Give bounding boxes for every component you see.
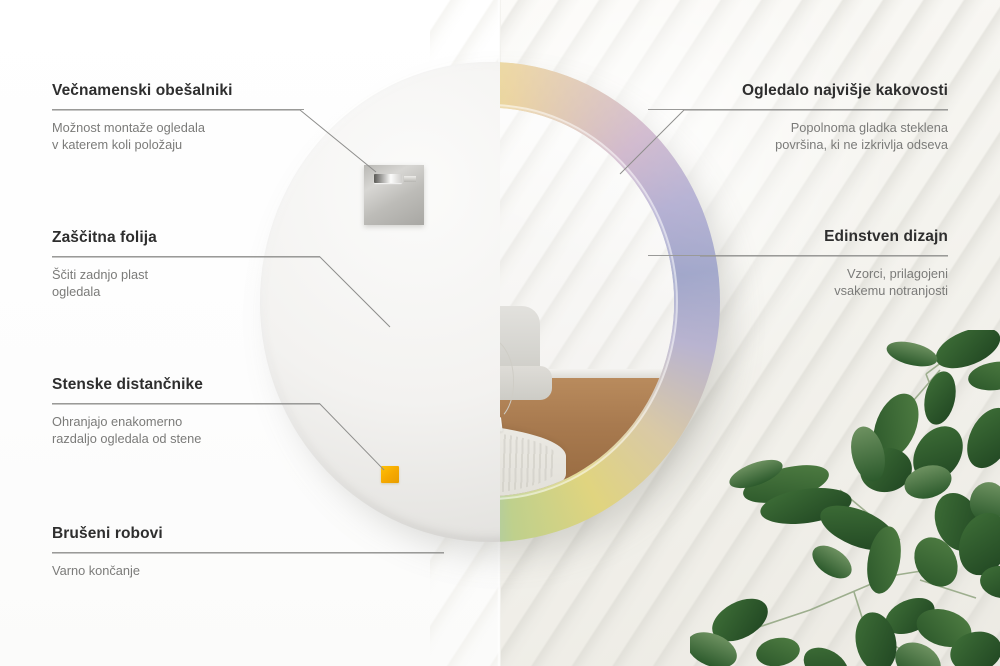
feature-wall-spacers: Stenske distančnike Ohranjajo enakomerno… xyxy=(52,376,320,447)
feature-protective-film-title: Zaščitna folija xyxy=(52,229,320,247)
feature-protective-film-desc: Ščiti zadnjo plast ogledala xyxy=(52,266,320,300)
feature-top-quality-mirror-title: Ogledalo najvišje kakovosti xyxy=(648,82,948,100)
feature-protective-film-rule xyxy=(52,256,320,257)
feature-wall-spacers-title: Stenske distančnike xyxy=(52,376,320,394)
feature-top-quality-mirror-rule xyxy=(648,109,948,110)
feature-hangers-desc: Možnost montaže ogledala v katerem koli … xyxy=(52,119,304,153)
hanger-slot-secondary xyxy=(404,176,416,182)
feature-polished-edges-rule xyxy=(52,552,444,553)
feature-polished-edges-desc: Varno končanje xyxy=(52,562,444,579)
feature-wall-spacers-rule xyxy=(52,403,320,404)
wall-spacer-pad xyxy=(381,466,399,483)
feature-top-quality-mirror-desc: Popolnoma gladka steklena površina, ki n… xyxy=(648,119,948,153)
multi-purpose-hanger-plate xyxy=(364,165,424,225)
feature-hangers: Večnamenski obešalniki Možnost montaže o… xyxy=(52,82,304,153)
hanger-keyhole-slot xyxy=(374,174,402,183)
feature-hangers-rule xyxy=(52,109,304,110)
feature-wall-spacers-desc: Ohranjajo enakomerno razdaljo ogledala o… xyxy=(52,413,320,447)
feature-unique-design-rule xyxy=(648,255,948,256)
decorative-foliage xyxy=(690,330,1000,666)
feature-protective-film: Zaščitna folija Ščiti zadnjo plast ogled… xyxy=(52,229,320,300)
feature-polished-edges-title: Brušeni robovi xyxy=(52,525,444,543)
feature-top-quality-mirror: Ogledalo najvišje kakovosti Popolnoma gl… xyxy=(648,82,948,153)
feature-unique-design: Edinstven dizajn Vzorci, prilagojeni vsa… xyxy=(648,228,948,299)
feature-unique-design-title: Edinstven dizajn xyxy=(648,228,948,246)
feature-unique-design-desc: Vzorci, prilagojeni vsakemu notranjosti xyxy=(648,265,948,299)
infographic-canvas: Večnamenski obešalniki Možnost montaže o… xyxy=(0,0,1000,666)
feature-hangers-title: Večnamenski obešalniki xyxy=(52,82,304,100)
feature-polished-edges: Brušeni robovi Varno končanje xyxy=(52,525,444,579)
